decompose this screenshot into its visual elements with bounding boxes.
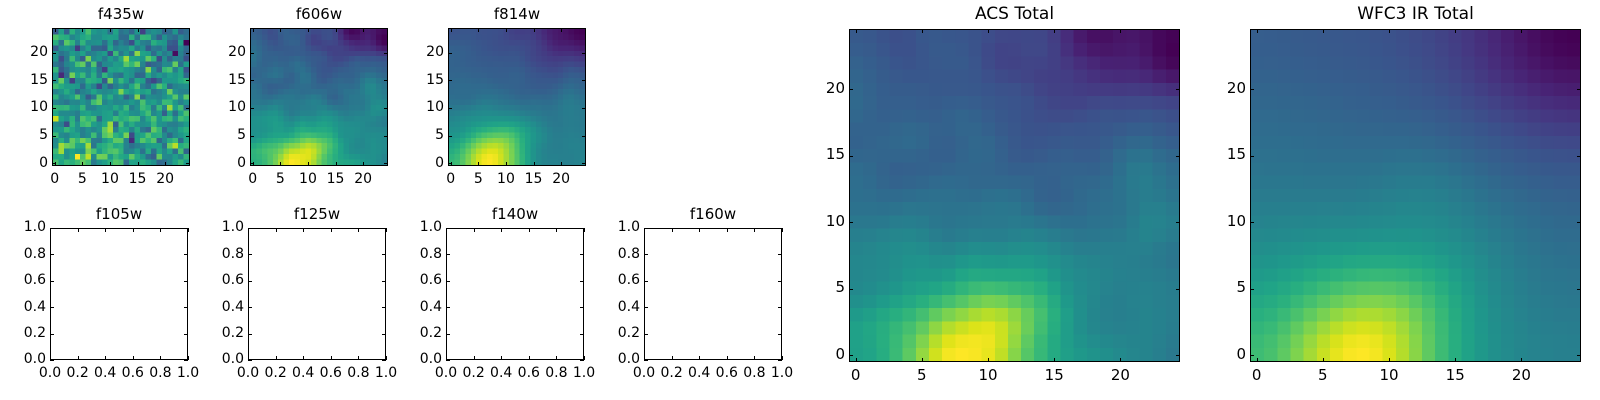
ytick-right-f814w-3 bbox=[582, 80, 586, 81]
ytick-f606w-3 bbox=[250, 80, 254, 81]
xtick-top-acs_total-3 bbox=[1054, 29, 1055, 33]
xtick-f105w-4 bbox=[160, 356, 161, 360]
axes-f105w[interactable] bbox=[50, 228, 188, 360]
xtick-top-f435w-1 bbox=[82, 28, 83, 32]
ytick-f125w-5 bbox=[248, 228, 252, 229]
xtick-f814w-4 bbox=[561, 162, 562, 166]
xtick-top-acs_total-2 bbox=[988, 29, 989, 33]
xtick-top-f435w-3 bbox=[138, 28, 139, 32]
xtick-top-wfc3_ir_total-3 bbox=[1455, 29, 1456, 33]
ytick-right-f814w-1 bbox=[582, 136, 586, 137]
yticklabel-f435w-1: 5 bbox=[2, 128, 48, 142]
xtick-acs_total-1 bbox=[922, 358, 923, 362]
xtick-f140w-2 bbox=[501, 356, 502, 360]
ytick-acs_total-0 bbox=[849, 355, 853, 356]
ytick-f160w-2 bbox=[644, 307, 648, 308]
yticklabel-wfc3_ir_total-3: 15 bbox=[1200, 147, 1246, 162]
ytick-right-f140w-5 bbox=[580, 228, 584, 229]
ytick-f435w-0 bbox=[52, 163, 56, 164]
panel-f125w: f125w0.00.20.40.60.81.00.00.20.40.60.81.… bbox=[248, 228, 386, 360]
yticklabel-f606w-4: 20 bbox=[200, 45, 246, 59]
ytick-right-f606w-0 bbox=[384, 163, 388, 164]
ytick-right-f606w-2 bbox=[384, 108, 388, 109]
yticklabel-f105w-4: 0.8 bbox=[0, 247, 46, 261]
panel-title-f140w: f140w bbox=[446, 207, 584, 222]
panel-acs_total: ACS Total0510152005101520 bbox=[849, 29, 1180, 362]
yticklabel-f606w-1: 5 bbox=[200, 128, 246, 142]
axes-f606w[interactable] bbox=[250, 28, 388, 166]
ytick-right-f105w-2 bbox=[184, 307, 188, 308]
xtick-f606w-3 bbox=[336, 162, 337, 166]
ytick-right-f160w-2 bbox=[778, 307, 782, 308]
xtick-f125w-5 bbox=[386, 356, 387, 360]
heatmap-image bbox=[53, 29, 189, 165]
ytick-f140w-1 bbox=[446, 334, 450, 335]
heatmap-image bbox=[1251, 30, 1580, 361]
xtick-top-f160w-2 bbox=[699, 228, 700, 232]
yticklabel-f160w-3: 0.6 bbox=[594, 273, 640, 287]
xtick-f160w-3 bbox=[727, 356, 728, 360]
xtick-f105w-2 bbox=[105, 356, 106, 360]
ytick-f105w-4 bbox=[50, 254, 54, 255]
xtick-f105w-1 bbox=[78, 356, 79, 360]
xtick-wfc3_ir_total-1 bbox=[1323, 358, 1324, 362]
ytick-right-f105w-5 bbox=[184, 228, 188, 229]
ytick-right-f814w-4 bbox=[582, 53, 586, 54]
ytick-right-f606w-3 bbox=[384, 80, 388, 81]
ytick-f125w-1 bbox=[248, 334, 252, 335]
yticklabel-wfc3_ir_total-1: 5 bbox=[1200, 280, 1246, 295]
axes-f435w[interactable] bbox=[52, 28, 190, 166]
panel-title-f814w: f814w bbox=[448, 7, 586, 22]
xtick-f160w-5 bbox=[782, 356, 783, 360]
xticklabel-f435w-4: 20 bbox=[135, 172, 195, 186]
xtick-f125w-2 bbox=[303, 356, 304, 360]
ytick-right-f435w-2 bbox=[186, 108, 190, 109]
ytick-right-f140w-4 bbox=[580, 254, 584, 255]
xtick-acs_total-0 bbox=[856, 358, 857, 362]
xtick-top-f140w-1 bbox=[474, 228, 475, 232]
ytick-f160w-5 bbox=[644, 228, 648, 229]
ytick-right-f160w-3 bbox=[778, 281, 782, 282]
yticklabel-f125w-5: 1.0 bbox=[198, 220, 244, 234]
panel-f105w: f105w0.00.20.40.60.81.00.00.20.40.60.81.… bbox=[50, 228, 188, 360]
xtick-f606w-1 bbox=[280, 162, 281, 166]
xtick-f814w-2 bbox=[506, 162, 507, 166]
ytick-right-f105w-4 bbox=[184, 254, 188, 255]
ytick-f105w-3 bbox=[50, 281, 54, 282]
xtick-top-f140w-5 bbox=[584, 228, 585, 232]
xtick-top-f125w-5 bbox=[386, 228, 387, 232]
xtick-top-f435w-4 bbox=[165, 28, 166, 32]
xtick-f125w-3 bbox=[331, 356, 332, 360]
yticklabel-f125w-4: 0.8 bbox=[198, 247, 244, 261]
xtick-top-acs_total-4 bbox=[1120, 29, 1121, 33]
ytick-right-acs_total-1 bbox=[1176, 289, 1180, 290]
yticklabel-wfc3_ir_total-4: 20 bbox=[1200, 81, 1246, 96]
ytick-right-acs_total-4 bbox=[1176, 89, 1180, 90]
xtick-top-wfc3_ir_total-1 bbox=[1323, 29, 1324, 33]
xticklabel-acs_total-3: 15 bbox=[1024, 368, 1084, 383]
yticklabel-acs_total-3: 15 bbox=[799, 147, 845, 162]
ytick-right-wfc3_ir_total-0 bbox=[1577, 355, 1581, 356]
xtick-acs_total-3 bbox=[1054, 358, 1055, 362]
ytick-right-wfc3_ir_total-1 bbox=[1577, 289, 1581, 290]
xtick-top-f105w-5 bbox=[188, 228, 189, 232]
ytick-right-f105w-3 bbox=[184, 281, 188, 282]
yticklabel-f125w-0: 0.0 bbox=[198, 352, 244, 366]
ytick-f125w-3 bbox=[248, 281, 252, 282]
xtick-f105w-5 bbox=[188, 356, 189, 360]
ytick-right-acs_total-3 bbox=[1176, 156, 1180, 157]
yticklabel-f105w-3: 0.6 bbox=[0, 273, 46, 287]
xticklabel-acs_total-1: 5 bbox=[892, 368, 952, 383]
xtick-f140w-1 bbox=[474, 356, 475, 360]
ytick-right-wfc3_ir_total-3 bbox=[1577, 156, 1581, 157]
xtick-top-f606w-1 bbox=[280, 28, 281, 32]
ytick-right-f435w-4 bbox=[186, 53, 190, 54]
xtick-f105w-3 bbox=[133, 356, 134, 360]
ytick-f435w-4 bbox=[52, 53, 56, 54]
xtick-top-f435w-2 bbox=[110, 28, 111, 32]
ytick-f105w-0 bbox=[50, 360, 54, 361]
heatmap-image bbox=[449, 29, 585, 165]
yticklabel-f140w-5: 1.0 bbox=[396, 220, 442, 234]
ytick-f105w-1 bbox=[50, 334, 54, 335]
xtick-top-f814w-1 bbox=[478, 28, 479, 32]
ytick-f606w-1 bbox=[250, 136, 254, 137]
yticklabel-f814w-4: 20 bbox=[398, 45, 444, 59]
ytick-f606w-0 bbox=[250, 163, 254, 164]
ytick-right-acs_total-0 bbox=[1176, 355, 1180, 356]
ytick-wfc3_ir_total-4 bbox=[1250, 89, 1254, 90]
xtick-top-wfc3_ir_total-2 bbox=[1389, 29, 1390, 33]
yticklabel-f125w-1: 0.2 bbox=[198, 326, 244, 340]
xtick-f125w-4 bbox=[358, 356, 359, 360]
xtick-top-f160w-3 bbox=[727, 228, 728, 232]
xtick-acs_total-4 bbox=[1120, 358, 1121, 362]
panel-f160w: f160w0.00.20.40.60.81.00.00.20.40.60.81.… bbox=[644, 228, 782, 360]
ytick-f814w-3 bbox=[448, 80, 452, 81]
yticklabel-f435w-2: 10 bbox=[2, 100, 48, 114]
ytick-right-f125w-2 bbox=[382, 307, 386, 308]
axes-f140w[interactable] bbox=[446, 228, 584, 360]
ytick-right-f140w-2 bbox=[580, 307, 584, 308]
xtick-wfc3_ir_total-0 bbox=[1257, 358, 1258, 362]
ytick-f160w-4 bbox=[644, 254, 648, 255]
ytick-f814w-1 bbox=[448, 136, 452, 137]
ytick-right-f125w-3 bbox=[382, 281, 386, 282]
ytick-f140w-3 bbox=[446, 281, 450, 282]
axes-acs_total[interactable] bbox=[849, 29, 1180, 362]
yticklabel-f105w-0: 0.0 bbox=[0, 352, 46, 366]
xtick-top-f606w-0 bbox=[253, 28, 254, 32]
ytick-f125w-2 bbox=[248, 307, 252, 308]
panel-title-f160w: f160w bbox=[644, 207, 782, 222]
figure-canvas: f435w0510152005101520f606w05101520051015… bbox=[0, 0, 1600, 400]
xtick-top-f814w-4 bbox=[561, 28, 562, 32]
yticklabel-f160w-1: 0.2 bbox=[594, 326, 640, 340]
ytick-right-f160w-4 bbox=[778, 254, 782, 255]
xtick-f160w-2 bbox=[699, 356, 700, 360]
xticklabel-f125w-5: 1.0 bbox=[356, 366, 416, 380]
ytick-right-f814w-0 bbox=[582, 163, 586, 164]
xtick-top-f125w-3 bbox=[331, 228, 332, 232]
xtick-f435w-1 bbox=[82, 162, 83, 166]
yticklabel-f160w-5: 1.0 bbox=[594, 220, 640, 234]
xtick-top-f814w-0 bbox=[451, 28, 452, 32]
ytick-f140w-2 bbox=[446, 307, 450, 308]
xtick-top-f160w-1 bbox=[672, 228, 673, 232]
ytick-right-f160w-0 bbox=[778, 360, 782, 361]
ytick-right-acs_total-2 bbox=[1176, 222, 1180, 223]
ytick-f105w-2 bbox=[50, 307, 54, 308]
ytick-f606w-2 bbox=[250, 108, 254, 109]
yticklabel-f814w-2: 10 bbox=[398, 100, 444, 114]
yticklabel-f140w-3: 0.6 bbox=[396, 273, 442, 287]
ytick-f814w-4 bbox=[448, 53, 452, 54]
ytick-right-f140w-3 bbox=[580, 281, 584, 282]
panel-title-acs_total: ACS Total bbox=[849, 6, 1180, 23]
ytick-acs_total-2 bbox=[849, 222, 853, 223]
ytick-wfc3_ir_total-0 bbox=[1250, 355, 1254, 356]
panel-title-f606w: f606w bbox=[250, 7, 388, 22]
xticklabel-wfc3_ir_total-1: 5 bbox=[1293, 368, 1353, 383]
panel-f814w: f814w0510152005101520 bbox=[448, 28, 586, 166]
ytick-right-f606w-4 bbox=[384, 53, 388, 54]
ytick-f160w-1 bbox=[644, 334, 648, 335]
heatmap-image bbox=[251, 29, 387, 165]
panel-wfc3_ir_total: WFC3 IR Total0510152005101520 bbox=[1250, 29, 1581, 362]
ytick-f125w-4 bbox=[248, 254, 252, 255]
xtick-wfc3_ir_total-3 bbox=[1455, 358, 1456, 362]
xtick-f160w-1 bbox=[672, 356, 673, 360]
yticklabel-f140w-0: 0.0 bbox=[396, 352, 442, 366]
xtick-top-f606w-2 bbox=[308, 28, 309, 32]
ytick-acs_total-1 bbox=[849, 289, 853, 290]
xticklabel-f160w-5: 1.0 bbox=[752, 366, 812, 380]
xtick-top-f105w-1 bbox=[78, 228, 79, 232]
ytick-right-f105w-0 bbox=[184, 360, 188, 361]
xticklabel-f140w-5: 1.0 bbox=[554, 366, 614, 380]
xtick-f125w-1 bbox=[276, 356, 277, 360]
ytick-right-f160w-5 bbox=[778, 228, 782, 229]
ytick-f140w-4 bbox=[446, 254, 450, 255]
ytick-f105w-5 bbox=[50, 228, 54, 229]
yticklabel-f435w-3: 15 bbox=[2, 73, 48, 87]
ytick-f814w-2 bbox=[448, 108, 452, 109]
axes-f814w[interactable] bbox=[448, 28, 586, 166]
yticklabel-f140w-1: 0.2 bbox=[396, 326, 442, 340]
panel-f140w: f140w0.00.20.40.60.81.00.00.20.40.60.81.… bbox=[446, 228, 584, 360]
yticklabel-wfc3_ir_total-2: 10 bbox=[1200, 214, 1246, 229]
xticklabel-f606w-4: 20 bbox=[333, 172, 393, 186]
xtick-top-f125w-2 bbox=[303, 228, 304, 232]
panel-title-f435w: f435w bbox=[52, 7, 190, 22]
yticklabel-f606w-0: 0 bbox=[200, 156, 246, 170]
panel-f606w: f606w0510152005101520 bbox=[250, 28, 388, 166]
xtick-top-f160w-5 bbox=[782, 228, 783, 232]
ytick-f435w-2 bbox=[52, 108, 56, 109]
ytick-acs_total-3 bbox=[849, 156, 853, 157]
ytick-right-f140w-1 bbox=[580, 334, 584, 335]
yticklabel-acs_total-0: 0 bbox=[799, 347, 845, 362]
xtick-top-f140w-4 bbox=[556, 228, 557, 232]
xtick-top-f105w-3 bbox=[133, 228, 134, 232]
xtick-f814w-1 bbox=[478, 162, 479, 166]
xtick-wfc3_ir_total-4 bbox=[1521, 358, 1522, 362]
yticklabel-wfc3_ir_total-0: 0 bbox=[1200, 347, 1246, 362]
axes-wfc3_ir_total[interactable] bbox=[1250, 29, 1581, 362]
xtick-top-f140w-3 bbox=[529, 228, 530, 232]
ytick-right-f606w-1 bbox=[384, 136, 388, 137]
xtick-f606w-2 bbox=[308, 162, 309, 166]
xtick-f160w-4 bbox=[754, 356, 755, 360]
xtick-top-wfc3_ir_total-4 bbox=[1521, 29, 1522, 33]
ytick-right-wfc3_ir_total-4 bbox=[1577, 89, 1581, 90]
ytick-acs_total-4 bbox=[849, 89, 853, 90]
ytick-wfc3_ir_total-1 bbox=[1250, 289, 1254, 290]
yticklabel-f606w-3: 15 bbox=[200, 73, 246, 87]
panel-title-f105w: f105w bbox=[50, 207, 188, 222]
xtick-top-f160w-4 bbox=[754, 228, 755, 232]
xticklabel-acs_total-4: 20 bbox=[1090, 368, 1150, 383]
xtick-f435w-3 bbox=[138, 162, 139, 166]
ytick-f435w-3 bbox=[52, 80, 56, 81]
xtick-top-f606w-4 bbox=[363, 28, 364, 32]
ytick-wfc3_ir_total-3 bbox=[1250, 156, 1254, 157]
yticklabel-f160w-0: 0.0 bbox=[594, 352, 640, 366]
xtick-f814w-3 bbox=[534, 162, 535, 166]
xticklabel-wfc3_ir_total-3: 15 bbox=[1425, 368, 1485, 383]
xtick-top-f125w-4 bbox=[358, 228, 359, 232]
yticklabel-f105w-1: 0.2 bbox=[0, 326, 46, 340]
ytick-right-f814w-2 bbox=[582, 108, 586, 109]
ytick-right-f435w-1 bbox=[186, 136, 190, 137]
panel-title-wfc3_ir_total: WFC3 IR Total bbox=[1250, 6, 1581, 23]
ytick-right-f435w-3 bbox=[186, 80, 190, 81]
xtick-f435w-2 bbox=[110, 162, 111, 166]
yticklabel-f606w-2: 10 bbox=[200, 100, 246, 114]
heatmap-image bbox=[850, 30, 1179, 361]
yticklabel-acs_total-2: 10 bbox=[799, 214, 845, 229]
xtick-top-f435w-0 bbox=[55, 28, 56, 32]
yticklabel-f814w-3: 15 bbox=[398, 73, 444, 87]
ytick-right-f125w-5 bbox=[382, 228, 386, 229]
panel-title-f125w: f125w bbox=[248, 207, 386, 222]
xtick-top-acs_total-1 bbox=[922, 29, 923, 33]
axes-f125w[interactable] bbox=[248, 228, 386, 360]
ytick-f140w-0 bbox=[446, 360, 450, 361]
ytick-f140w-5 bbox=[446, 228, 450, 229]
xticklabel-f105w-5: 1.0 bbox=[158, 366, 218, 380]
ytick-f125w-0 bbox=[248, 360, 252, 361]
panel-f435w: f435w0510152005101520 bbox=[52, 28, 190, 166]
yticklabel-f125w-3: 0.6 bbox=[198, 273, 244, 287]
yticklabel-f160w-2: 0.4 bbox=[594, 300, 640, 314]
ytick-right-f125w-4 bbox=[382, 254, 386, 255]
xtick-f140w-4 bbox=[556, 356, 557, 360]
xticklabel-f814w-4: 20 bbox=[531, 172, 591, 186]
xtick-wfc3_ir_total-2 bbox=[1389, 358, 1390, 362]
xtick-top-f814w-3 bbox=[534, 28, 535, 32]
xtick-top-f105w-2 bbox=[105, 228, 106, 232]
yticklabel-acs_total-1: 5 bbox=[799, 280, 845, 295]
ytick-wfc3_ir_total-2 bbox=[1250, 222, 1254, 223]
xtick-f140w-3 bbox=[529, 356, 530, 360]
ytick-f160w-3 bbox=[644, 281, 648, 282]
xtick-top-f814w-2 bbox=[506, 28, 507, 32]
yticklabel-acs_total-4: 20 bbox=[799, 81, 845, 96]
xtick-f140w-5 bbox=[584, 356, 585, 360]
yticklabel-f140w-2: 0.4 bbox=[396, 300, 442, 314]
yticklabel-f814w-1: 5 bbox=[398, 128, 444, 142]
axes-f160w[interactable] bbox=[644, 228, 782, 360]
ytick-right-f125w-1 bbox=[382, 334, 386, 335]
ytick-f435w-1 bbox=[52, 136, 56, 137]
xticklabel-acs_total-0: 0 bbox=[826, 368, 886, 383]
xtick-f435w-4 bbox=[165, 162, 166, 166]
ytick-f814w-0 bbox=[448, 163, 452, 164]
yticklabel-f435w-4: 20 bbox=[2, 45, 48, 59]
xtick-top-f105w-4 bbox=[160, 228, 161, 232]
ytick-f606w-4 bbox=[250, 53, 254, 54]
xtick-top-f125w-1 bbox=[276, 228, 277, 232]
ytick-right-f105w-1 bbox=[184, 334, 188, 335]
ytick-right-f140w-0 bbox=[580, 360, 584, 361]
ytick-f160w-0 bbox=[644, 360, 648, 361]
xtick-top-f140w-2 bbox=[501, 228, 502, 232]
xticklabel-wfc3_ir_total-0: 0 bbox=[1227, 368, 1287, 383]
yticklabel-f125w-2: 0.4 bbox=[198, 300, 244, 314]
yticklabel-f105w-2: 0.4 bbox=[0, 300, 46, 314]
yticklabel-f160w-4: 0.8 bbox=[594, 247, 640, 261]
yticklabel-f105w-5: 1.0 bbox=[0, 220, 46, 234]
ytick-right-wfc3_ir_total-2 bbox=[1577, 222, 1581, 223]
yticklabel-f140w-4: 0.8 bbox=[396, 247, 442, 261]
xtick-top-acs_total-0 bbox=[856, 29, 857, 33]
ytick-right-f435w-0 bbox=[186, 163, 190, 164]
xtick-top-f606w-3 bbox=[336, 28, 337, 32]
xtick-acs_total-2 bbox=[988, 358, 989, 362]
xtick-top-wfc3_ir_total-0 bbox=[1257, 29, 1258, 33]
ytick-right-f125w-0 bbox=[382, 360, 386, 361]
xticklabel-wfc3_ir_total-2: 10 bbox=[1359, 368, 1419, 383]
yticklabel-f435w-0: 0 bbox=[2, 156, 48, 170]
ytick-right-f160w-1 bbox=[778, 334, 782, 335]
yticklabel-f814w-0: 0 bbox=[398, 156, 444, 170]
xticklabel-wfc3_ir_total-4: 20 bbox=[1491, 368, 1551, 383]
xticklabel-acs_total-2: 10 bbox=[958, 368, 1018, 383]
xtick-f606w-4 bbox=[363, 162, 364, 166]
